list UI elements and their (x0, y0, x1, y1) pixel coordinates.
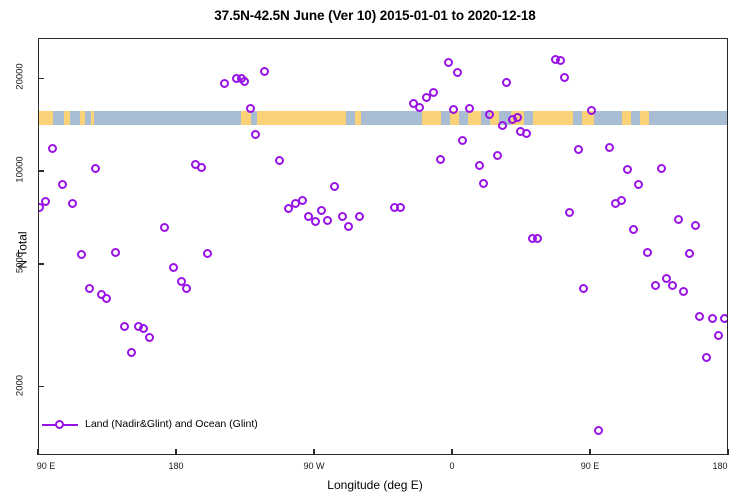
x-tick-label: 90 E (37, 461, 56, 471)
data-point (657, 164, 666, 173)
data-point (323, 216, 332, 225)
chart-title: 37.5N-42.5N June (Ver 10) 2015-01-01 to … (0, 8, 750, 23)
x-tick-mark (175, 449, 176, 455)
data-point (160, 223, 169, 232)
data-point (77, 250, 86, 259)
coastline-segment-ocean (94, 111, 241, 125)
y-tick-mark (38, 78, 44, 79)
data-point (260, 67, 269, 76)
x-tick-label: 90 W (303, 461, 324, 471)
data-point (85, 284, 94, 293)
data-point (587, 106, 596, 115)
data-point (338, 212, 347, 221)
data-point (668, 281, 677, 290)
data-point (617, 196, 626, 205)
coastline-segment-ocean (459, 111, 468, 125)
data-point (169, 263, 178, 272)
data-point (453, 68, 462, 77)
y-tick-mark (38, 386, 44, 387)
data-point (139, 324, 148, 333)
coastline-segment-land (640, 111, 649, 125)
data-point (565, 208, 574, 217)
data-point (685, 249, 694, 258)
data-point (623, 165, 632, 174)
data-point (58, 180, 67, 189)
data-point (182, 284, 191, 293)
x-tick-mark (589, 449, 590, 455)
data-point (533, 234, 542, 243)
data-point (479, 179, 488, 188)
x-tick-label: 0 (449, 461, 454, 471)
x-axis-label: Longitude (deg E) (0, 478, 750, 492)
data-point (695, 312, 704, 321)
data-point (651, 281, 660, 290)
data-point (330, 182, 339, 191)
data-point (714, 331, 723, 340)
coastline-segment-land (257, 111, 346, 125)
data-point (458, 136, 467, 145)
data-point (145, 333, 154, 342)
data-point (691, 221, 700, 230)
y-tick-mark (38, 170, 44, 171)
data-point (556, 56, 565, 65)
x-tick-label: 180 (712, 461, 727, 471)
y-tick-label: 2000 (15, 371, 26, 399)
data-point (502, 78, 511, 87)
coastline-segment-ocean (441, 111, 450, 125)
legend: Land (Nadir&Glint) and Ocean (Glint) (42, 418, 258, 430)
data-point (102, 294, 111, 303)
data-point (594, 426, 603, 435)
data-point (449, 105, 458, 114)
data-point (415, 103, 424, 112)
coastline-segment-ocean (346, 111, 355, 125)
data-point (91, 164, 100, 173)
data-point (708, 314, 717, 323)
y-tick-label: 20000 (15, 63, 26, 91)
coastline-segment-ocean (361, 111, 422, 125)
plot-area (38, 38, 728, 455)
x-tick-mark (727, 449, 728, 455)
data-point (498, 121, 507, 130)
coastline-segment-land (422, 111, 440, 125)
coastline-segment-ocean (53, 111, 64, 125)
x-tick-mark (451, 449, 452, 455)
data-point (574, 145, 583, 154)
data-point (522, 129, 531, 138)
coastline-segment-land (622, 111, 631, 125)
data-point (485, 110, 494, 119)
data-point (720, 314, 727, 323)
data-point (579, 284, 588, 293)
x-tick-label: 90 E (581, 461, 600, 471)
figure: 37.5N-42.5N June (Ver 10) 2015-01-01 to … (0, 0, 750, 500)
coastline-segment-ocean (649, 111, 727, 125)
coastline-segment-land (533, 111, 573, 125)
x-tick-mark (313, 449, 314, 455)
data-point (475, 161, 484, 170)
data-point (702, 353, 711, 362)
legend-label: Land (Nadir&Glint) and Ocean (Glint) (85, 418, 258, 430)
data-point (275, 156, 284, 165)
x-tick-mark (37, 449, 38, 455)
coastline-segment-ocean (631, 111, 640, 125)
data-point (560, 73, 569, 82)
data-point (251, 130, 260, 139)
data-point (197, 163, 206, 172)
y-tick-mark (38, 263, 44, 264)
coastline-segment-ocean (573, 111, 582, 125)
coastline-segment-land (468, 111, 480, 125)
coastline-segment-land (241, 111, 250, 125)
data-point (68, 199, 77, 208)
coastline-segment-ocean (70, 111, 81, 125)
legend-marker (42, 419, 78, 430)
data-point (127, 348, 136, 357)
data-point (396, 203, 405, 212)
y-tick-label: 10000 (15, 156, 26, 184)
x-tick-label: 180 (168, 461, 183, 471)
coastline-segment-land (39, 111, 53, 125)
data-point (436, 155, 445, 164)
data-point (355, 212, 364, 221)
y-tick-label: 5000 (15, 248, 26, 276)
data-point (298, 196, 307, 205)
data-layer (39, 39, 727, 454)
coastline-segment-ocean (594, 111, 622, 125)
data-point (120, 322, 129, 331)
data-point (41, 197, 50, 206)
data-point (605, 143, 614, 152)
legend-circle-icon (55, 420, 64, 429)
data-point (240, 77, 249, 86)
data-point (634, 180, 643, 189)
data-point (311, 217, 320, 226)
coastline-segment-ocean (524, 111, 533, 125)
data-point (679, 287, 688, 296)
data-point (203, 249, 212, 258)
data-point (48, 144, 57, 153)
data-point (629, 225, 638, 234)
data-point (444, 58, 453, 67)
data-point (493, 151, 502, 160)
data-point (220, 79, 229, 88)
data-point (317, 206, 326, 215)
data-point (344, 222, 353, 231)
data-point (111, 248, 120, 257)
data-point (674, 215, 683, 224)
data-point (429, 88, 438, 97)
data-point (643, 248, 652, 257)
data-point (246, 104, 255, 113)
